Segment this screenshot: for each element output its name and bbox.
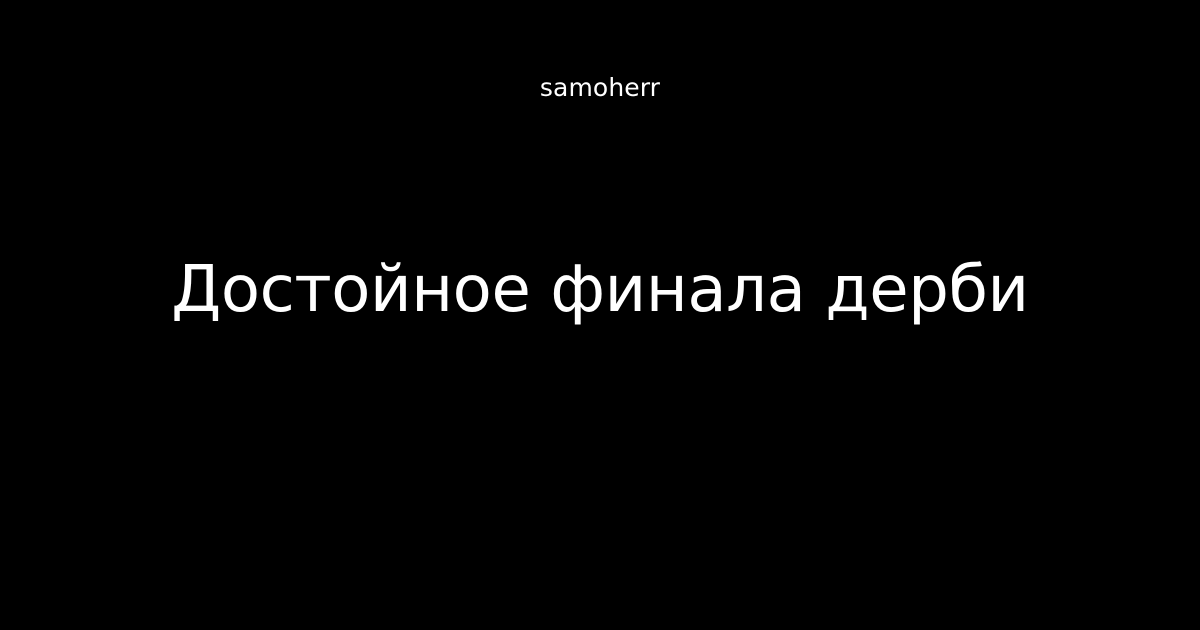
site-name-label: samoherr <box>0 72 1200 104</box>
page-title: Достойное финала дерби <box>131 252 1068 328</box>
social-preview-card: samoherr Достойное финала дерби <box>0 0 1200 630</box>
title-container: Достойное финала дерби <box>0 252 1200 328</box>
